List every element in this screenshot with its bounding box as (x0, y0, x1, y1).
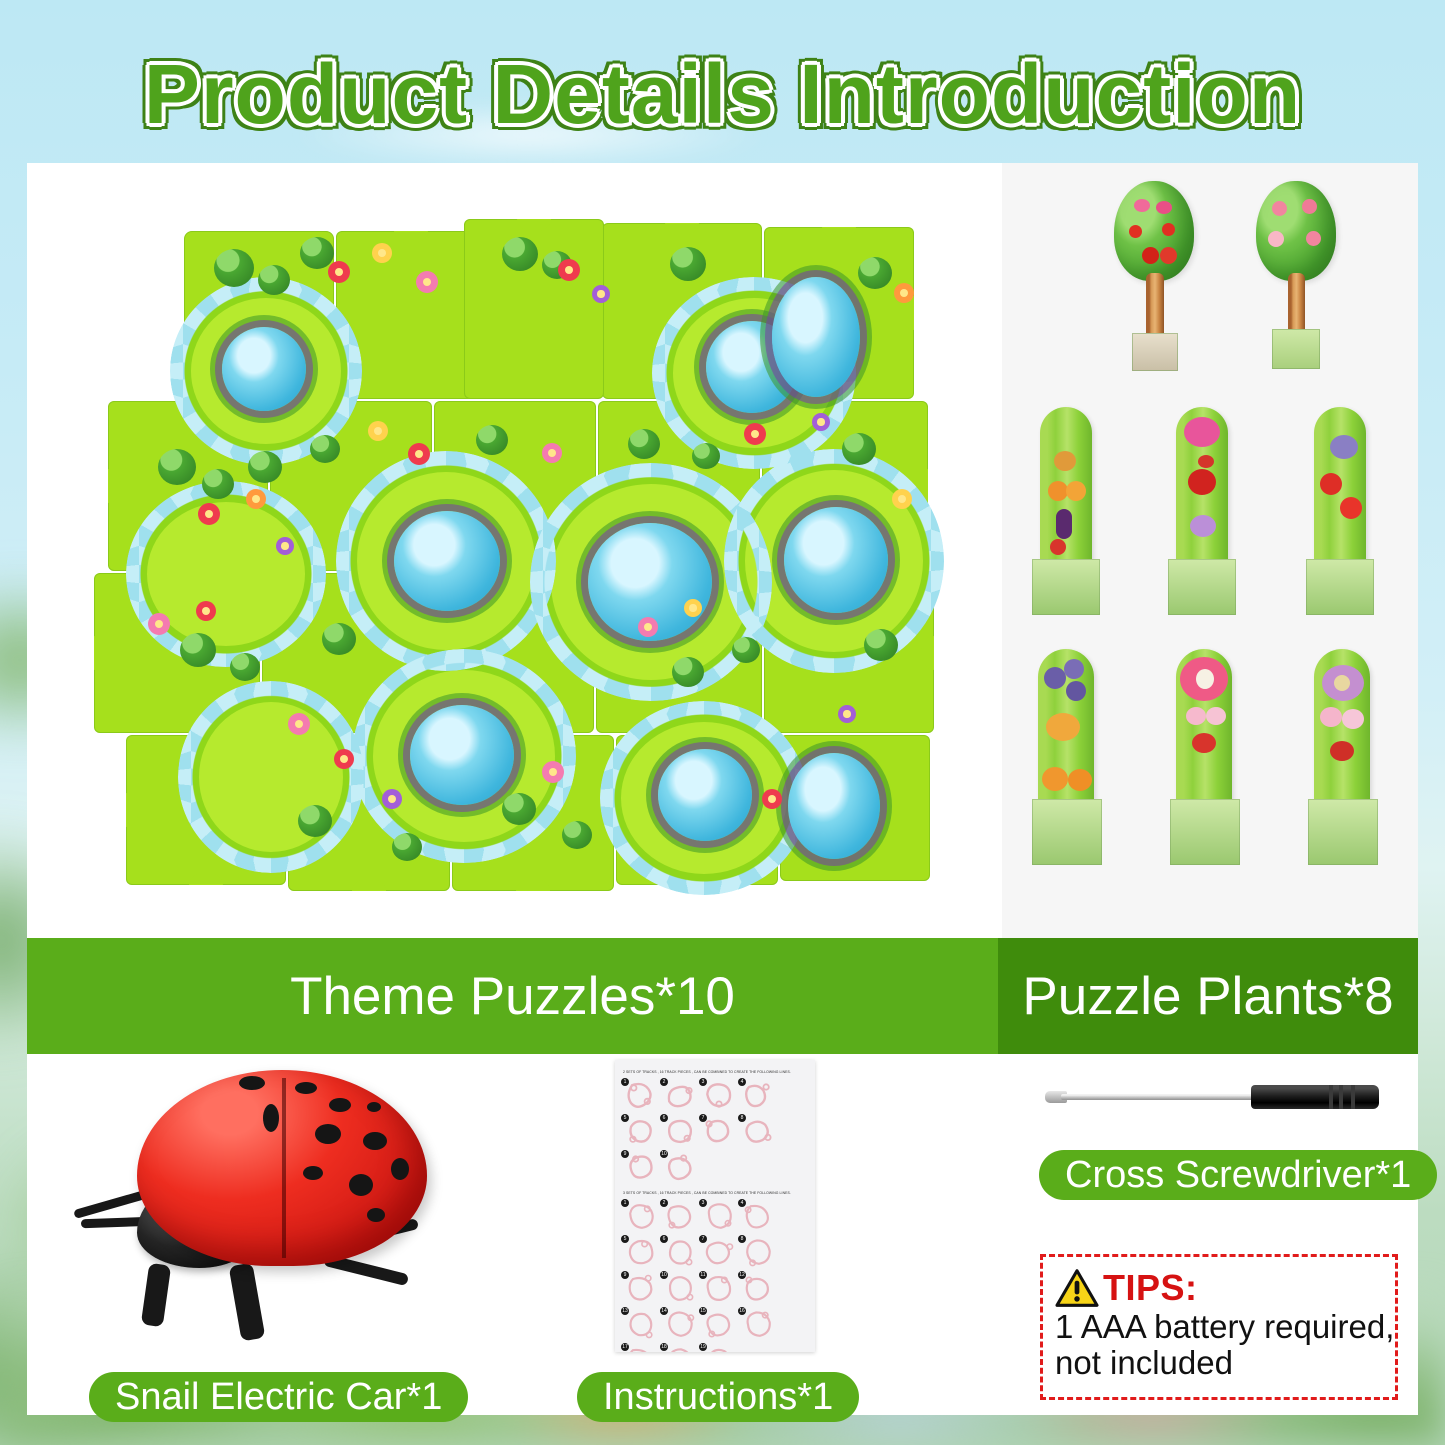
track-diagram: 17 (623, 1344, 659, 1352)
pond (394, 511, 500, 611)
flower (744, 423, 766, 445)
shell-split (282, 1078, 286, 1258)
flower (148, 613, 170, 635)
theme-puzzles-image-cell (27, 163, 998, 938)
bush (322, 623, 356, 655)
flower (838, 705, 856, 723)
puzzle-plants-image-cell (1002, 163, 1418, 938)
spot (349, 1174, 373, 1196)
leg (141, 1263, 171, 1327)
strawberry (1050, 539, 1066, 555)
flower-center (1334, 675, 1350, 691)
cross-screwdriver-label: Cross Screwdriver*1 (1039, 1150, 1437, 1200)
eggplant (1056, 509, 1072, 539)
red-ladybug-electric-toy-car (67, 1068, 457, 1358)
track-diagram: 19 (701, 1344, 737, 1352)
diagram-grid-section-1: 1 2 3 4 5 6 7 8 9 10 (623, 1079, 807, 1185)
handle-ring (1351, 1085, 1355, 1109)
track-diagram: 3 (701, 1200, 737, 1234)
screwdriver-shaft (1061, 1094, 1257, 1100)
track-diagram: 1 (623, 1200, 659, 1234)
track-diagram: 9 (623, 1151, 659, 1185)
leg (229, 1262, 266, 1341)
bush (298, 805, 332, 837)
plant-apple-tree-with-butterflies (1108, 181, 1200, 371)
apple (1142, 247, 1159, 264)
track-diagram: 8 (740, 1115, 776, 1149)
bush (392, 833, 422, 861)
spot (315, 1124, 341, 1144)
track-diagram: 7 (701, 1236, 737, 1270)
top-section (27, 163, 1418, 938)
plant-purple-flower-ladybug-stalk (1304, 649, 1384, 869)
puzzle-plants-label: Puzzle Plants*8 (1022, 966, 1393, 1027)
flower (408, 443, 430, 465)
bush (300, 237, 334, 269)
bush (310, 435, 340, 463)
bush (732, 637, 760, 663)
daisy-center (1196, 669, 1214, 689)
tomato (1320, 473, 1342, 495)
content-panel: Theme Puzzles*10 Puzzle Plants*8 (27, 163, 1418, 1415)
snail (1330, 435, 1358, 459)
blueberry (1066, 681, 1086, 701)
flower (684, 599, 702, 617)
screwdriver-handle (1251, 1085, 1379, 1109)
section-label-bars: Theme Puzzles*10 Puzzle Plants*8 (27, 938, 1418, 1054)
plant-snail-tomato-vine-stalk (1302, 407, 1382, 617)
flower (288, 713, 310, 735)
bush (502, 793, 536, 825)
track-diagram: 4 (740, 1079, 776, 1113)
track-diagram: 7 (701, 1115, 737, 1149)
small-flower (1320, 707, 1342, 727)
tips-line-2: not included (1055, 1345, 1383, 1381)
bush (692, 443, 720, 469)
spot (329, 1098, 351, 1112)
track-diagram: 15 (701, 1308, 737, 1342)
ladybug (1330, 741, 1354, 761)
ladybug (1198, 455, 1214, 468)
track-diagram: 16 (740, 1308, 776, 1342)
spot (239, 1076, 265, 1090)
tomato (1340, 497, 1362, 519)
persimmon (1066, 481, 1086, 501)
pond (788, 753, 880, 859)
track-diagram: 11 (701, 1272, 737, 1306)
flower (372, 243, 392, 263)
small-flower (1206, 707, 1226, 725)
plant-pink-daisy-ladybug-stalk (1166, 649, 1246, 869)
bush (476, 425, 508, 455)
plant-blueberry-butterfly-pumpkin-stalk (1028, 649, 1108, 869)
bush (230, 653, 260, 681)
bush (258, 265, 290, 295)
puzzle-plants-label-bar: Puzzle Plants*8 (998, 938, 1418, 1054)
pumpkin (1042, 767, 1068, 791)
plant-blossom-tree-pink-flowers (1250, 181, 1342, 371)
cobble-ring (126, 481, 326, 667)
antenna (73, 1190, 147, 1219)
pond (410, 705, 514, 805)
bush (202, 469, 234, 499)
tips-line-1: 1 AAA battery required, (1055, 1309, 1383, 1345)
small-flower (1342, 709, 1364, 729)
persimmon (1048, 481, 1068, 501)
assembled-garden-puzzle-mat (72, 193, 962, 893)
flower (368, 421, 388, 441)
flower (328, 261, 350, 283)
flower (812, 413, 830, 431)
track-diagram: 8 (740, 1236, 776, 1270)
bush (864, 629, 898, 661)
sheet-header-1: 2 SETS OF TRACKS , 16 TRACK PIECES , CAN… (623, 1070, 807, 1074)
tips-box: TIPS: 1 AAA battery required, not includ… (1040, 1254, 1398, 1400)
apple (1162, 223, 1175, 236)
pond (658, 749, 752, 841)
blossom (1272, 201, 1287, 216)
flower (382, 789, 402, 809)
purple-flower (1190, 515, 1216, 537)
pond (222, 327, 306, 411)
spot (263, 1104, 279, 1132)
ladybug (1192, 733, 1216, 753)
apple (1160, 247, 1177, 264)
blossom (1306, 231, 1321, 246)
spot (295, 1082, 317, 1094)
pumpkin (1068, 769, 1092, 791)
track-diagram: 3 (701, 1079, 737, 1113)
bush (858, 257, 892, 289)
flower (334, 749, 354, 769)
butterfly (1046, 713, 1080, 741)
bush (214, 249, 254, 287)
flower (638, 617, 658, 637)
blueberry (1044, 667, 1066, 689)
theme-puzzles-label: Theme Puzzles*10 (290, 966, 735, 1027)
flower (246, 489, 266, 509)
tips-header: TIPS: (1055, 1267, 1383, 1309)
flower (198, 503, 220, 525)
bush (672, 657, 704, 687)
flower (892, 489, 912, 509)
blossom (1268, 231, 1284, 247)
track-diagram: 5 (623, 1236, 659, 1270)
track-diagram: 9 (623, 1272, 659, 1306)
blueberry (1064, 659, 1084, 679)
theme-puzzles-label-bar: Theme Puzzles*10 (27, 938, 998, 1054)
track-diagram: 5 (623, 1115, 659, 1149)
track-diagram: 6 (662, 1115, 698, 1149)
bush (502, 237, 538, 271)
instructions-label: Instructions*1 (577, 1372, 859, 1422)
spot (363, 1132, 387, 1150)
track-layout-instruction-sheet: 2 SETS OF TRACKS , 16 TRACK PIECES , CAN… (615, 1060, 815, 1352)
pond (784, 507, 888, 613)
tips-label: TIPS: (1103, 1267, 1198, 1309)
bush (842, 433, 876, 465)
spot (391, 1158, 409, 1180)
track-diagram: 1 (623, 1079, 659, 1113)
track-diagram: 2 (662, 1079, 698, 1113)
cobble-ring (178, 681, 364, 873)
track-diagram: 10 (662, 1272, 698, 1306)
flower (196, 601, 216, 621)
warning-triangle-icon (1055, 1268, 1099, 1308)
bush (670, 247, 706, 281)
handle-ring (1339, 1085, 1343, 1109)
track-diagram: 12 (740, 1272, 776, 1306)
bush (158, 449, 196, 485)
track-diagram: 14 (662, 1308, 698, 1342)
plant-snail-persimmon-eggplant-stalk (1028, 407, 1108, 617)
snail (1054, 451, 1076, 471)
flower (276, 537, 294, 555)
track-diagram: 2 (662, 1200, 698, 1234)
flower (592, 285, 610, 303)
diagram-grid-section-2: 1 2 3 4 5 6 7 8 9 10 11 12 13 14 15 16 1… (623, 1200, 807, 1352)
flower (542, 443, 562, 463)
track-diagram: 13 (623, 1308, 659, 1342)
bush (562, 821, 592, 849)
black-phillips-screwdriver (1039, 1080, 1399, 1114)
flower (542, 761, 564, 783)
page-title: Product Details Introduction (0, 46, 1445, 143)
rose (1188, 469, 1216, 495)
bush (628, 429, 660, 459)
sheet-header-2: 3 SETS OF TRACKS , 16 TRACK PIECES , CAN… (623, 1191, 807, 1195)
bush (180, 633, 216, 667)
apple (1129, 225, 1142, 238)
track-diagram: 18 (662, 1344, 698, 1352)
accessories-section: Snail Electric Car*1 2 SETS OF TRACKS , … (27, 1054, 1418, 1415)
pink-flower (1184, 417, 1220, 447)
flower (558, 259, 580, 281)
track-diagram: 6 (662, 1236, 698, 1270)
plant-pink-flower-ladybug-rose-stalk (1164, 407, 1244, 617)
flower (762, 789, 782, 809)
spot (303, 1166, 323, 1180)
flower (416, 271, 438, 293)
blossom (1302, 199, 1317, 214)
butterfly (1134, 199, 1150, 212)
snail-electric-car-label: Snail Electric Car*1 (89, 1372, 468, 1422)
spot (367, 1208, 385, 1222)
flower (894, 283, 914, 303)
butterfly (1156, 201, 1172, 214)
spot (367, 1102, 381, 1112)
handle-ring (1329, 1085, 1333, 1109)
pond (772, 277, 860, 397)
small-flower (1186, 707, 1206, 725)
bush (248, 451, 282, 483)
track-diagram: 4 (740, 1200, 776, 1234)
track-diagram: 10 (662, 1151, 698, 1185)
